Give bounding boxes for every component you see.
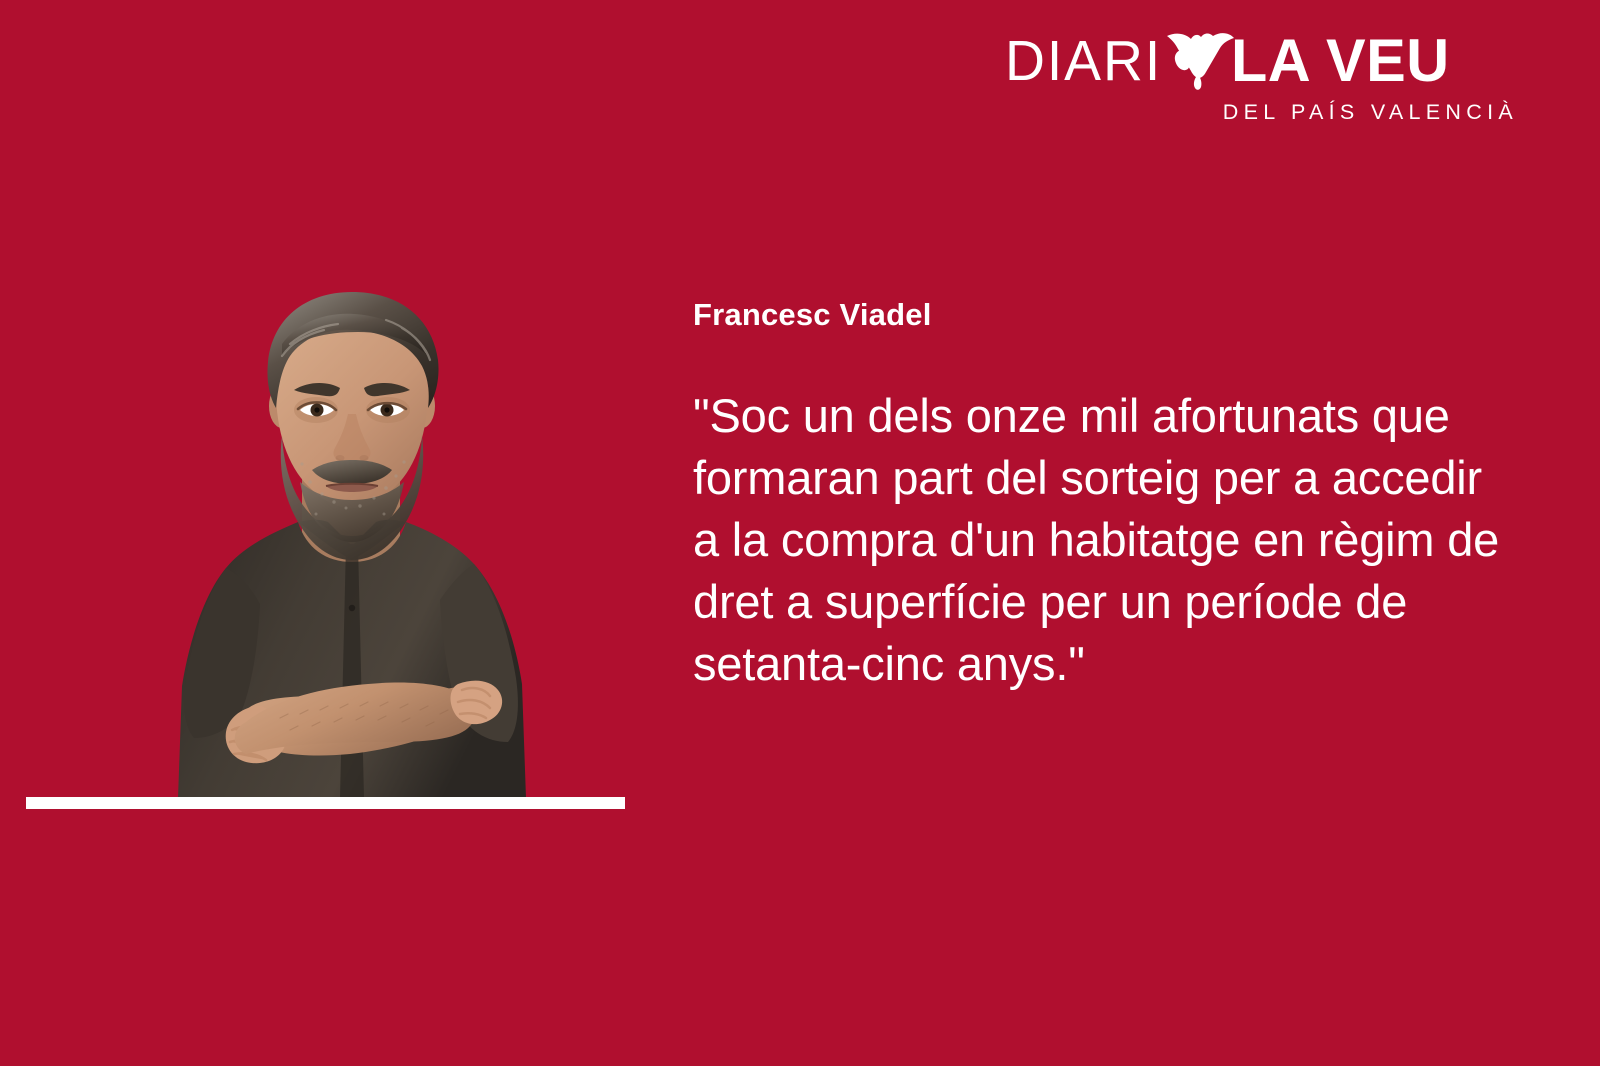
- logo-wordmark-row: DIARI LA VEU: [1005, 28, 1452, 94]
- logo-word-diari: DIARI: [1005, 33, 1162, 90]
- quote-text: "Soc un dels onze mil afortunats que for…: [693, 385, 1513, 695]
- white-divider-bar: [26, 797, 625, 809]
- author-name: Francesc Viadel: [693, 297, 1513, 333]
- portrait-photo: [170, 286, 534, 798]
- logo-tagline: DEL PAÍS VALENCIÀ: [1223, 102, 1518, 124]
- quote-card: DIARI LA VEU DEL PAÍS VALENCIÀ: [0, 0, 1600, 1066]
- bat-rooster-v-icon: [1165, 30, 1235, 92]
- brand-logo[interactable]: DIARI LA VEU DEL PAÍS VALENCIÀ: [1005, 28, 1520, 128]
- quote-text-block: Francesc Viadel "Soc un dels onze mil af…: [693, 297, 1513, 695]
- logo-word-laveu: LA VEU: [1231, 31, 1450, 91]
